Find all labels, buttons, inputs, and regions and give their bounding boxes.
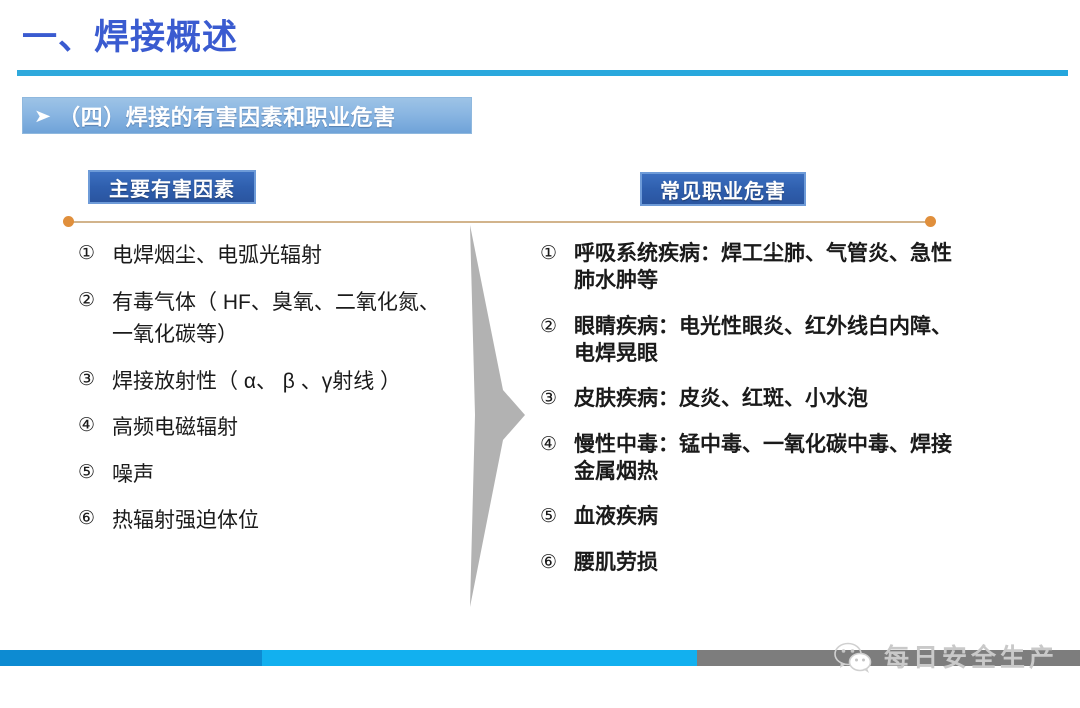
occupational-hazards-list: ① 呼吸系统疾病：焊工尘肺、气管炎、急性肺水肿等 ② 眼睛疾病：电光性眼炎、红外… bbox=[540, 240, 960, 594]
section-heading-bar: ➤ （四）焊接的有害因素和职业危害 bbox=[22, 97, 472, 134]
list-item: ⑤ 噪声 bbox=[78, 459, 448, 492]
list-item-text: 热辐射强迫体位 bbox=[112, 505, 448, 538]
list-item-number: ⑤ bbox=[540, 503, 574, 531]
list-item: ① 电焊烟尘、电弧光辐射 bbox=[78, 240, 448, 273]
chevron-right-icon: ➤ bbox=[34, 107, 51, 125]
list-item-text: 焊接放射性（ α、 β 、γ射线 ） bbox=[112, 366, 448, 399]
list-item-text: 高频电磁辐射 bbox=[112, 412, 448, 445]
title-divider bbox=[17, 70, 1068, 76]
list-item-number: ③ bbox=[78, 366, 112, 394]
footer-bar-dark-blue bbox=[0, 650, 262, 666]
page-title: 一、焊接概述 bbox=[22, 16, 238, 60]
list-item-number: ① bbox=[540, 240, 574, 268]
list-item: ③ 皮肤疾病：皮炎、红斑、小水泡 bbox=[540, 385, 960, 413]
column-header-left-label: 主要有害因素 bbox=[109, 173, 235, 202]
list-item-text: 慢性中毒：锰中毒、一氧化碳中毒、焊接金属烟热 bbox=[574, 431, 960, 486]
wechat-icon bbox=[832, 641, 876, 675]
list-item-text: 眼睛疾病：电光性眼炎、红外线白内障、电焊晃眼 bbox=[574, 313, 960, 368]
section-heading-label: （四）焊接的有害因素和职业危害 bbox=[58, 100, 396, 132]
connector-dot-left-icon bbox=[63, 216, 74, 227]
hazard-factors-list: ① 电焊烟尘、电弧光辐射 ② 有毒气体（ HF、臭氧、二氧化氮、一氧化碳等） ③… bbox=[78, 240, 448, 552]
list-item: ④ 高频电磁辐射 bbox=[78, 412, 448, 445]
list-item: ② 有毒气体（ HF、臭氧、二氧化氮、一氧化碳等） bbox=[78, 287, 448, 352]
list-item-number: ⑥ bbox=[540, 549, 574, 577]
list-item-number: ② bbox=[78, 287, 112, 315]
list-item-text: 有毒气体（ HF、臭氧、二氧化氮、一氧化碳等） bbox=[112, 287, 448, 352]
list-item-text: 血液疾病 bbox=[574, 503, 960, 530]
list-item: ② 眼睛疾病：电光性眼炎、红外线白内障、电焊晃眼 bbox=[540, 313, 960, 368]
list-item-number: ⑥ bbox=[78, 505, 112, 533]
list-item: ⑥ 热辐射强迫体位 bbox=[78, 505, 448, 538]
list-item-text: 皮肤疾病：皮炎、红斑、小水泡 bbox=[574, 385, 960, 412]
list-item-text: 腰肌劳损 bbox=[574, 549, 960, 576]
list-item-number: ④ bbox=[78, 412, 112, 440]
list-item: ⑥ 腰肌劳损 bbox=[540, 549, 960, 577]
list-item-number: ⑤ bbox=[78, 459, 112, 487]
list-item-text: 呼吸系统疾病：焊工尘肺、气管炎、急性肺水肿等 bbox=[574, 240, 960, 295]
list-item: ③ 焊接放射性（ α、 β 、γ射线 ） bbox=[78, 366, 448, 399]
list-item-number: ② bbox=[540, 313, 574, 341]
column-header-left: 主要有害因素 bbox=[88, 170, 256, 204]
list-item: ⑤ 血液疾病 bbox=[540, 503, 960, 531]
column-header-right-label: 常见职业危害 bbox=[660, 175, 786, 204]
list-item-text: 噪声 bbox=[112, 459, 448, 492]
list-item-text: 电焊烟尘、电弧光辐射 bbox=[112, 240, 448, 273]
column-header-right: 常见职业危害 bbox=[640, 172, 806, 206]
list-item: ④ 慢性中毒：锰中毒、一氧化碳中毒、焊接金属烟热 bbox=[540, 431, 960, 486]
footer-bar-light-blue bbox=[262, 650, 697, 666]
footer-account-name: 每日安全生产 bbox=[884, 641, 1058, 675]
list-item-number: ③ bbox=[540, 385, 574, 413]
connector-dot-right-icon bbox=[925, 216, 936, 227]
slide-canvas: 一、焊接概述 ➤ （四）焊接的有害因素和职业危害 主要有害因素 常见职业危害 ①… bbox=[0, 0, 1080, 708]
list-item: ① 呼吸系统疾病：焊工尘肺、气管炎、急性肺水肿等 bbox=[540, 240, 960, 295]
list-item-number: ① bbox=[78, 240, 112, 268]
list-item-number: ④ bbox=[540, 431, 574, 459]
right-arrow-shape-icon bbox=[455, 215, 545, 615]
